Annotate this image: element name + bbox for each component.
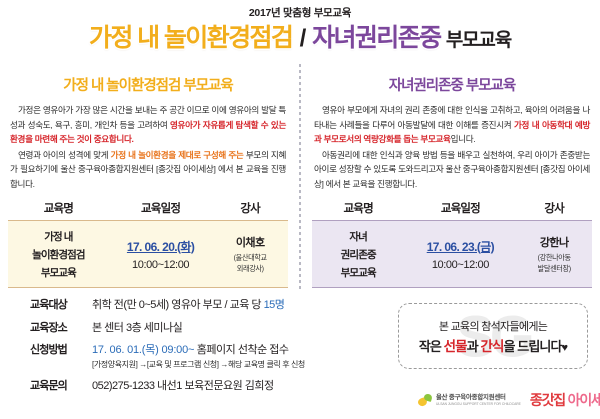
info-row-place: 교육장소 본 센터 3층 세미나실 [30, 321, 430, 336]
left-column: 가정 내 놀이환경점검 부모교육 가정은 영유아가 가장 많은 시간을 보내는 … [0, 64, 296, 292]
right-column: 자녀권리존중 부모교육 영유아 부모에게 자녀의 권리 존중에 대한 인식을 고… [304, 64, 600, 292]
right-column-heading: 자녀권리존중 부모교육 [304, 64, 600, 96]
info-apply-date: 17. 06. 01.(목) 09:00~ [92, 344, 194, 356]
left-course-time: 10:00~12:00 [110, 259, 212, 271]
info-value-contact: 052)275-1233 내선1 보육전문요원 김희정 [92, 379, 274, 394]
info-label-place: 교육장소 [30, 321, 92, 336]
gift-emphasis-present: 선물 [444, 339, 467, 354]
center-name-korean: 울산 중구육아종합지원센터 [436, 394, 521, 402]
left-th-name: 교육명 [8, 197, 109, 221]
right-teacher-affiliation: (강한나아동발달센터장) [517, 252, 591, 274]
page-title: 가정 내 놀이환경점검 / 자녀권리존중 부모교육 [0, 22, 600, 57]
left-teacher-affiliation: (울산대학교외래강사) [213, 252, 287, 274]
info-target-text: 취학 전(만 0~5세) 영유아 부모 / 교육 당 [92, 299, 264, 311]
footer-branding: 울산 중구육아종합지원센터 ULSAN JUNGGU SUPPORT CENTE… [418, 385, 596, 415]
column-divider [296, 64, 304, 292]
right-course-date-link[interactable]: 17. 06. 23.(금) [405, 238, 515, 255]
info-apply-path: [가정양육지원] →[교육 및 프로그램 신청] →해당 교육명 클릭 후 신청 [92, 359, 305, 371]
center-logo-text: 울산 중구육아종합지원센터 ULSAN JUNGGU SUPPORT CENTE… [436, 394, 521, 407]
two-column-section: 가정 내 놀이환경점검 부모교육 가정은 영유아가 가장 많은 시간을 보내는 … [0, 64, 600, 292]
left-p2-text-a: 연령과 아이의 성격에 맞게 [18, 150, 111, 160]
left-course-date-link[interactable]: 17. 06. 20.(화) [110, 238, 212, 255]
left-cell-schedule: 17. 06. 20.(화) 10:00~12:00 [109, 221, 213, 288]
left-p2-emphasis: 가정 내 놀이환경을 제대로 구성해 주는 [111, 150, 244, 160]
poster-root: 2017년 맞춤형 부모교육 가정 내 놀이환경점검 / 자녀권리존중 부모교육… [0, 0, 600, 419]
gift-notice-box: SG 본 교육의 참석자들에게는 작은 선물과 간식을 드립니다♥ [398, 303, 588, 369]
left-table-body: 가정 내놀이환경점검부모교육 17. 06. 20.(화) 10:00~12:0… [8, 221, 288, 288]
poster-header: 2017년 맞춤형 부모교육 가정 내 놀이환경점검 / 자녀권리존중 부모교육 [0, 0, 600, 62]
info-list: 교육대상 취학 전(만 0~5세) 영유아 부모 / 교육 당 15명 교육장소… [30, 298, 430, 401]
table-row: 자녀권리존중부모교육 17. 06. 23.(금) 10:00~12:00 강한… [312, 221, 592, 288]
right-cell-name: 자녀권리존중부모교육 [312, 221, 404, 288]
info-target-count: 15명 [264, 299, 285, 311]
gift-line-2: 작은 선물과 간식을 드립니다♥ [399, 337, 587, 358]
info-row-apply: 신청방법 17. 06. 01.(목) 09:00~ 홈페이지 선착순 접수 [… [30, 343, 430, 371]
title-segment-orange: 가정 내 놀이환경점검 [89, 24, 292, 52]
left-course-name: 가정 내놀이환경점검부모교육 [32, 231, 85, 279]
left-table-head: 교육명 교육일정 강사 [8, 197, 288, 221]
right-th-name: 교육명 [312, 197, 404, 221]
gift-line2-a: 작은 [419, 339, 444, 354]
right-paragraph-2: 아동권리에 대한 인식과 양육 방법 등을 배우고 실천하여, 우리 아이가 존… [314, 148, 590, 192]
header-kicker: 2017년 맞춤형 부모교육 [0, 0, 600, 20]
title-segment-purple: 자녀권리존중 [312, 24, 440, 52]
right-table-wrapper: 교육명 교육일정 강사 자녀권리존중부모교육 17. 06. 23.(금) [304, 197, 600, 288]
brand-logo: 종갓집 아이세상 [530, 390, 600, 410]
right-th-teacher: 강사 [516, 197, 592, 221]
left-column-body: 가정은 영유아가 가장 많은 시간을 보내는 주 공간 이므로 이에 영유아의 … [0, 96, 296, 191]
left-th-teacher: 강사 [212, 197, 288, 221]
info-apply-text: 홈페이지 선착순 접수 [194, 344, 288, 356]
right-course-time: 10:00~12:00 [405, 259, 515, 271]
gift-notice-text: 본 교육의 참석자들에게는 작은 선물과 간식을 드립니다♥ [399, 304, 587, 358]
right-table-header-row: 교육명 교육일정 강사 [312, 197, 592, 221]
left-cell-name: 가정 내놀이환경점검부모교육 [8, 221, 109, 288]
left-paragraph-1: 가정은 영유아가 가장 많은 시간을 보내는 주 공간 이므로 이에 영유아의 … [10, 103, 286, 147]
left-table-header-row: 교육명 교육일정 강사 [8, 197, 288, 221]
right-p1-text-b: 입니다. [451, 134, 476, 144]
info-row-contact: 교육문의 052)275-1233 내선1 보육전문요원 김희정 [30, 379, 430, 394]
left-schedule-table: 교육명 교육일정 강사 가정 내놀이환경점검부모교육 17. 06. 20.(화… [8, 197, 288, 288]
info-value-apply: 17. 06. 01.(목) 09:00~ 홈페이지 선착순 접수 [92, 343, 305, 358]
gift-line-1: 본 교육의 참석자들에게는 [399, 317, 587, 337]
info-label-target: 교육대상 [30, 298, 92, 313]
info-row-target: 교육대상 취학 전(만 0~5세) 영유아 부모 / 교육 당 15명 [30, 298, 430, 313]
title-segment-black: 부모교육 [446, 30, 511, 51]
info-label-contact: 교육문의 [30, 379, 92, 394]
left-table-wrapper: 교육명 교육일정 강사 가정 내놀이환경점검부모교육 17. 06. 20.(화… [0, 197, 296, 288]
right-column-body: 영유아 부모에게 자녀의 권리 존중에 대한 인식을 고취하고, 육아의 어려움… [304, 96, 600, 191]
right-course-name: 자녀권리존중부모교육 [341, 231, 376, 279]
info-label-apply: 신청방법 [30, 343, 92, 358]
title-separator: / [298, 25, 307, 52]
right-th-schedule: 교육일정 [404, 197, 516, 221]
sprout-icon [418, 393, 433, 408]
gift-line2-b: 과 [467, 339, 481, 354]
info-value-place: 본 센터 3층 세미나실 [92, 321, 182, 336]
left-column-heading: 가정 내 놀이환경점검 부모교육 [0, 64, 296, 96]
right-table-head: 교육명 교육일정 강사 [312, 197, 592, 221]
right-schedule-table: 교육명 교육일정 강사 자녀권리존중부모교육 17. 06. 23.(금) [312, 197, 592, 288]
right-teacher-name: 강한나 [517, 234, 591, 250]
heart-icon: ♥ [562, 342, 568, 354]
info-value-apply-group: 17. 06. 01.(목) 09:00~ 홈페이지 선착순 접수 [가정양육지… [92, 343, 305, 371]
right-table-body: 자녀권리존중부모교육 17. 06. 23.(금) 10:00~12:00 강한… [312, 221, 592, 288]
table-row: 가정 내놀이환경점검부모교육 17. 06. 20.(화) 10:00~12:0… [8, 221, 288, 288]
brand-part-1: 종갓집 [530, 392, 565, 408]
right-cell-teacher: 강한나 (강한나아동발달센터장) [516, 221, 592, 288]
gift-line2-c: 을 드립니다 [504, 339, 562, 354]
left-paragraph-2: 연령과 아이의 성격에 맞게 가정 내 놀이환경을 제대로 구성해 주는 부모의… [10, 148, 286, 192]
left-th-schedule: 교육일정 [109, 197, 213, 221]
left-cell-teacher: 이채호 (울산대학교외래강사) [212, 221, 288, 288]
sprout-leaf-green [423, 393, 433, 402]
brand-part-2: 아이세상 [568, 392, 600, 408]
left-teacher-name: 이채호 [213, 234, 287, 250]
right-paragraph-1: 영유아 부모에게 자녀의 권리 존중에 대한 인식을 고취하고, 육아의 어려움… [314, 103, 590, 147]
center-name-english: ULSAN JUNGGU SUPPORT CENTER FOR CHILDCAR… [436, 402, 521, 407]
gift-emphasis-snack: 간식 [480, 339, 503, 354]
right-cell-schedule: 17. 06. 23.(금) 10:00~12:00 [404, 221, 516, 288]
info-value-target: 취학 전(만 0~5세) 영유아 부모 / 교육 당 15명 [92, 298, 284, 313]
